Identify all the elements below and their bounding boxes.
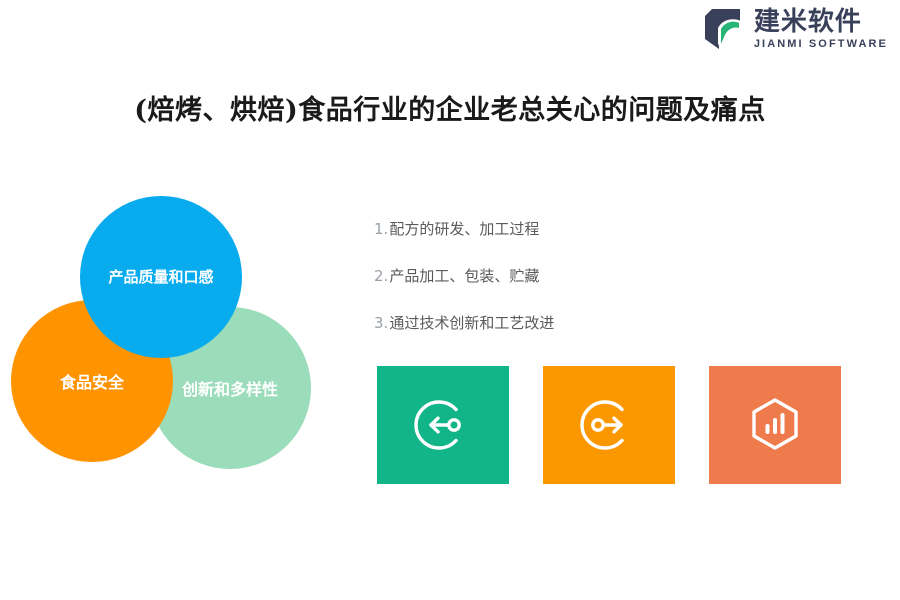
list-item-text: 配方的研发、加工过程: [389, 218, 539, 239]
tile-hexagon-bar-chart[interactable]: [709, 366, 841, 484]
list-item-number: 1.: [374, 220, 388, 238]
jianmi-hexagon-leaf-logo-icon: [700, 6, 746, 52]
tile-circle-arrow-left[interactable]: [377, 366, 509, 484]
brand-name-cn: 建米软件: [754, 9, 888, 35]
brand-name-en: JIANMI SOFTWARE: [754, 39, 888, 50]
hexagon-bar-chart-icon: [744, 394, 806, 456]
venn-label-innovation-diversity: 创新和多样性: [182, 376, 278, 400]
tile-circle-arrow-right[interactable]: [543, 366, 675, 484]
list-item: 3. 通过技术创新和工艺改进: [374, 312, 794, 333]
slide-canvas: 建米软件 JIANMI SOFTWARE (焙烤、烘焙)食品行业的企业老总关心的…: [0, 0, 900, 600]
list-item: 2. 产品加工、包装、贮藏: [374, 265, 794, 286]
list-item: 1. 配方的研发、加工过程: [374, 218, 794, 239]
venn-label-food-safety: 食品安全: [60, 369, 124, 393]
list-item-text: 产品加工、包装、贮藏: [389, 265, 539, 286]
venn-diagram: 创新和多样性 食品安全 产品质量和口感: [8, 192, 348, 472]
icon-tile-row: [377, 366, 841, 484]
circle-arrow-right-icon: [578, 394, 640, 456]
pain-point-list: 1. 配方的研发、加工过程 2. 产品加工、包装、贮藏 3. 通过技术创新和工艺…: [374, 218, 794, 359]
venn-label-product-quality-taste: 产品质量和口感: [108, 267, 213, 287]
circle-arrow-left-icon: [412, 394, 474, 456]
venn-circle-product-quality-taste[interactable]: 产品质量和口感: [80, 196, 242, 358]
page-title: (焙烤、烘焙)食品行业的企业老总关心的问题及痛点: [0, 88, 900, 127]
list-item-text: 通过技术创新和工艺改进: [389, 312, 554, 333]
list-item-number: 3.: [374, 314, 388, 332]
list-item-number: 2.: [374, 267, 388, 285]
brand-logo[interactable]: 建米软件 JIANMI SOFTWARE: [700, 6, 888, 52]
